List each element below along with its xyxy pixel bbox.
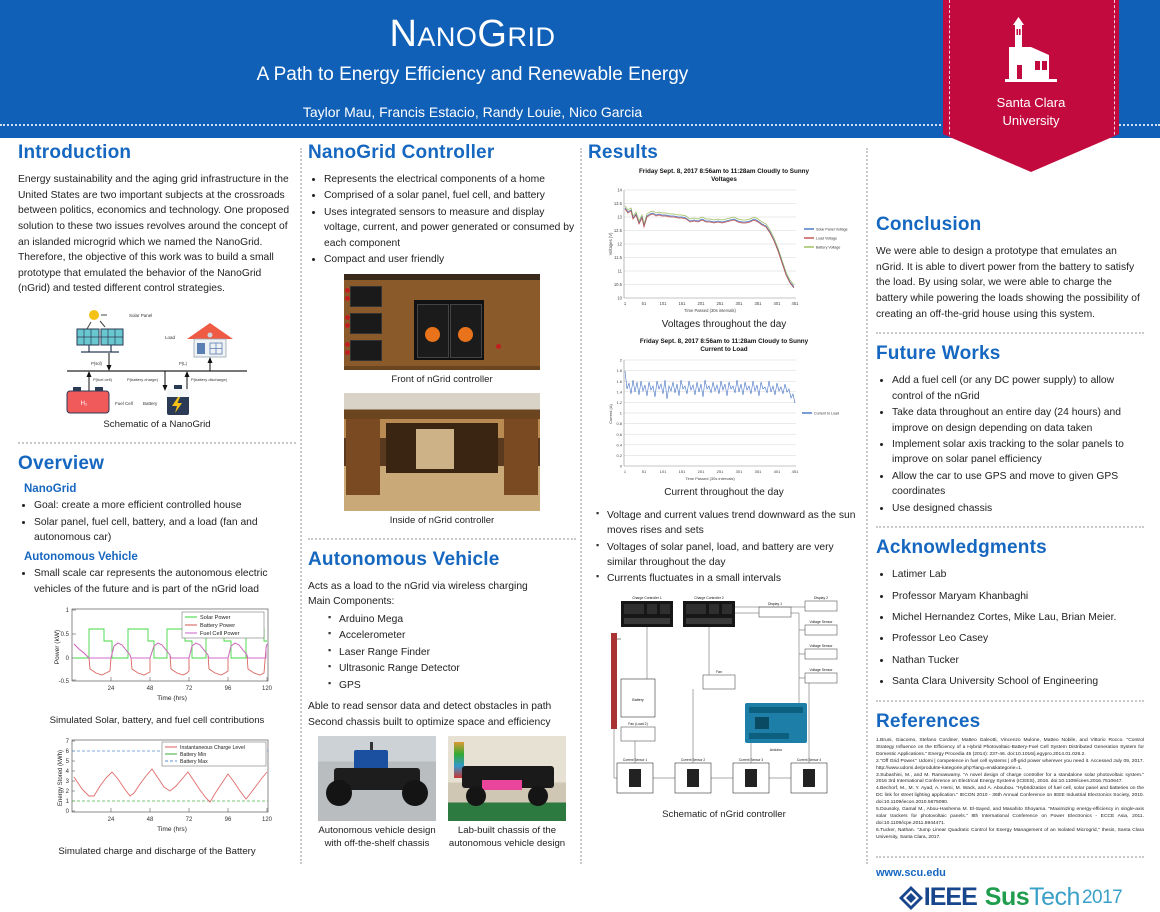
svg-text:2: 2 [66,789,70,795]
future-works-list: Add a fuel cell (or any DC power supply)… [876,373,1144,516]
svg-text:Solar Panel Voltage: Solar Panel Voltage [816,228,848,232]
references-heading: References [876,711,1144,733]
overview-heading: Overview [18,453,296,475]
section-acknowledgments: Acknowledgments Latimer Lab Professor Ma… [876,537,1144,690]
section-divider [876,526,1144,528]
list-item: GPS [328,678,576,693]
svg-text:451: 451 [792,301,800,306]
svg-text:24: 24 [108,686,115,692]
svg-text:Voltages (V): Voltages (V) [608,232,613,255]
list-item: Implement solar axis tracking to the sol… [892,437,1144,468]
poster-subtitle: A Path to Energy Efficiency and Renewabl… [257,64,689,86]
vehicle-offshelf-photo [318,736,436,821]
overview-vehicle-list: Small scale car represents the autonomou… [18,566,296,597]
svg-text:Time (hrs): Time (hrs) [157,826,187,833]
vehicle-line-1: Acts as a load to the nGrid via wireless… [308,579,576,595]
svg-text:Instantaneous Charge Level: Instantaneous Charge Level [180,745,245,751]
list-item: Arduino Mega [328,612,576,627]
svg-text:96: 96 [225,686,232,692]
svg-text:Energy Stored (kWh): Energy Stored (kWh) [58,750,64,806]
svg-text:48: 48 [147,686,154,692]
svg-text:Load Voltage: Load Voltage [816,237,837,241]
battery-charge-chart-figure: 765 432 10 [18,734,296,859]
svg-text:-0.5: -0.5 [59,679,70,685]
vehicle-labbuilt-photo [448,736,566,821]
section-divider [308,538,576,540]
svg-text:151: 151 [679,301,687,306]
header-text-block: NanoGrid A Path to Energy Efficiency and… [0,0,945,138]
voltages-chart-title-line2: Voltages [588,176,860,184]
section-autonomous-vehicle: Autonomous Vehicle Acts as a load to the… [308,549,576,852]
column-2: NanoGrid Controller Represents the elect… [308,142,576,851]
svg-text:11.5: 11.5 [614,255,623,260]
svg-text:Load: Load [165,335,176,340]
svg-text:1.2: 1.2 [616,400,622,405]
controller-inside-photo-caption: Inside of nGrid controller [308,515,576,528]
section-introduction: Introduction Energy sustainability and t… [18,142,296,432]
column-1: Introduction Energy sustainability and t… [18,142,296,859]
vehicle-line-2: Main Components: [308,594,576,610]
svg-text:Current to Load: Current to Load [814,412,839,416]
vehicle-offshelf-caption-line2: with off-the-shelf chassis [318,838,436,851]
battery-charge-chart: 765 432 10 [34,734,280,842]
svg-text:14: 14 [617,188,622,193]
svg-text:Solar Panel: Solar Panel [129,313,152,318]
reference-entry: 6.Tucker, Nathan. "Jump Linear Quadratic… [876,828,1144,842]
svg-text:P(battery charge): P(battery charge) [127,377,159,382]
vehicle-heading: Autonomous Vehicle [308,549,576,571]
scu-name: Santa Clara University [943,94,1119,129]
list-item: Ultrasonic Range Detector [328,661,576,676]
list-item: Accelerometer [328,628,576,643]
svg-text:401: 401 [774,301,782,306]
column-divider-2 [580,148,582,864]
svg-text:6: 6 [66,749,70,755]
future-works-heading: Future Works [876,343,1144,365]
reference-entry: 2."Off Grid Power." Udomi | competence i… [876,759,1144,773]
svg-text:201: 201 [698,301,706,306]
list-item: Goal: create a more efficient controlled… [34,498,296,513]
svg-text:201: 201 [698,469,705,474]
svg-text:0.5: 0.5 [61,632,70,638]
column-divider-3 [866,148,868,864]
footer-divider [876,856,1144,858]
list-item: Professor Leo Casey [892,631,1144,646]
scu-url-link[interactable]: www.scu.edu [876,867,1144,879]
svg-text:Battery: Battery [143,401,158,406]
svg-text:101: 101 [660,301,668,306]
voltages-chart-figure: Friday Sept. 8, 2017 8:56am to 11:28am C… [588,168,860,332]
svg-text:11: 11 [618,269,623,274]
acknowledgments-heading: Acknowledgments [876,537,1144,559]
svg-text:12.5: 12.5 [614,228,623,233]
list-item: Nathan Tucker [892,653,1144,668]
poster-body: Introduction Energy sustainability and t… [0,142,1160,870]
section-references: References 1.Bruni, Giacomo, Stefano Cor… [876,711,1144,842]
svg-text:Display 1: Display 1 [768,602,782,606]
svg-text:1: 1 [66,799,70,805]
svg-text:0: 0 [620,464,623,469]
svg-text:120: 120 [262,686,273,692]
column-4: Conclusion We were able to design a prot… [876,142,1144,912]
svg-text:1.6: 1.6 [616,379,622,384]
column-divider-1 [300,148,302,864]
list-item: Michel Hernandez Cortes, Mike Lau, Brian… [892,610,1144,625]
svg-text:Current (A): Current (A) [608,404,613,424]
svg-text:251: 251 [717,469,724,474]
svg-text:1.4: 1.4 [616,390,622,395]
svg-text:Fan: Fan [716,670,722,674]
section-conclusion: Conclusion We were able to design a prot… [876,214,1144,322]
svg-text:120: 120 [262,817,273,823]
ngrid-schematic-caption: Schematic of nGrid controller [588,809,860,822]
current-chart-caption: Current throughout the day [588,486,860,500]
list-item: Comprised of a solar panel, fuel cell, a… [324,188,576,203]
svg-text:51: 51 [642,469,647,474]
list-item: Santa Clara University School of Enginee… [892,674,1144,689]
simulated-power-chart-caption: Simulated Solar, battery, and fuel cell … [18,715,296,728]
vehicle-components-list: Arduino Mega Accelerometer Laser Range F… [308,612,576,693]
column-3: Results Friday Sept. 8, 2017 8:56am to 1… [588,142,860,822]
simulated-power-chart-figure: 1 0.5 0 -0.5 2448 [18,603,296,728]
svg-text:10: 10 [617,296,622,301]
svg-text:1: 1 [624,469,627,474]
list-item: Laser Range Finder [328,645,576,660]
page-title: NanoGrid [389,14,555,56]
ngrid-schematic-figure: Charge Controller 1 Charge Controller 2 [588,593,860,822]
svg-text:Battery Max: Battery Max [180,759,208,765]
list-item: Use designed chassis [892,501,1144,516]
section-nanogrid-controller: NanoGrid Controller Represents the elect… [308,142,576,528]
svg-text:P(L): P(L) [179,361,188,366]
svg-text:0.4: 0.4 [616,443,622,448]
controller-front-photo-caption: Front of nGrid controller [308,374,576,387]
svg-text:Fuel Cell: Fuel Cell [115,401,133,406]
svg-text:Battery Power: Battery Power [200,623,235,629]
overview-nanogrid-list: Goal: create a more efficient controlled… [18,498,296,545]
vehicle-labbuilt-figure: Lab-built chassis of the autonomous vehi… [448,736,566,851]
svg-text:Voltage Sensor: Voltage Sensor [810,644,834,648]
svg-text:1: 1 [624,301,627,306]
svg-text:0.2: 0.2 [616,453,622,458]
svg-text:Fuel Cell Power: Fuel Cell Power [200,631,240,637]
svg-text:13: 13 [617,215,622,220]
scu-name-line2: University [943,112,1119,130]
conclusion-heading: Conclusion [876,214,1144,236]
reference-entry: 3.Subashini, M., and M. Ramaswamy. "A no… [876,773,1144,787]
svg-text:Time Passed (30s intervals): Time Passed (30s intervals) [684,308,736,313]
tech-wordmark: Tech [1029,883,1080,912]
ieee-sustech-logo: IEEE Sus Tech 2017 [876,883,1144,912]
svg-text:101: 101 [660,469,667,474]
svg-text:251: 251 [717,301,725,306]
svg-text:P(battery discharge): P(battery discharge) [191,377,228,382]
vehicle-offshelf-figure: Autonomous vehicle design with off-the-s… [318,736,436,851]
svg-text:401: 401 [774,469,781,474]
svg-text:0.8: 0.8 [616,421,622,426]
svg-text:72: 72 [186,817,193,823]
svg-text:0: 0 [66,809,70,815]
svg-text:1: 1 [620,411,623,416]
svg-text:301: 301 [736,469,743,474]
voltages-chart-caption: Voltages throughout the day [588,318,860,332]
svg-text:351: 351 [755,301,763,306]
list-item: Compact and user friendly [324,252,576,267]
list-item: Uses integrated sensors to measure and d… [324,205,576,251]
svg-text:Voltage Sensor: Voltage Sensor [810,668,834,672]
acknowledgments-list: Latimer Lab Professor Maryam Khanbaghi M… [876,567,1144,690]
section-divider [876,332,1144,334]
results-bullet-list: Voltage and current values trend downwar… [588,508,860,587]
list-item: Allow the car to use GPS and move to giv… [892,469,1144,500]
svg-text:H₂: H₂ [81,401,88,407]
reference-entry: 5.Dousoky, Gamal M., Abou-Hashema M. El-… [876,807,1144,828]
svg-text:Power (kW): Power (kW) [54,630,61,664]
svg-text:Charge Controller 2: Charge Controller 2 [694,596,724,600]
list-item: Represents the electrical components of … [324,172,576,187]
svg-text:451: 451 [792,469,799,474]
svg-text:351: 351 [755,469,762,474]
introduction-heading: Introduction [18,142,296,164]
poster-authors: Taylor Mau, Francis Estacio, Randy Louie… [303,104,642,120]
section-future-works: Future Works Add a fuel cell (or any DC … [876,343,1144,516]
list-item: Voltages of solar panel, load, and batte… [596,540,860,571]
results-heading: Results [588,142,860,164]
svg-text:5: 5 [66,759,70,765]
svg-text:7: 7 [66,739,70,745]
section-divider [876,700,1144,702]
current-chart-figure: Friday Sept. 8, 2017 8:56am to 11:28am C… [588,338,860,500]
list-item: Add a fuel cell (or any DC power supply)… [892,373,1144,404]
nanogrid-schematic-figure: H₂ Solar Panel Load P(sol) [18,305,296,432]
voltages-chart: 1413.513 12.51211.5 1110.510 151101 1512… [598,186,850,316]
controller-bullet-list: Represents the electrical components of … [308,172,576,268]
vehicle-offshelf-caption-line1: Autonomous vehicle design [318,825,436,838]
vehicle-labbuilt-caption-line1: Lab-built chassis of the [448,825,566,838]
references-list: 1.Bruni, Giacomo, Stefano Cordiner, Matt… [876,738,1144,842]
nanogrid-schematic-icon: H₂ Solar Panel Load P(sol) [47,305,267,415]
section-divider [18,442,296,444]
vehicle-line-3: Able to read sensor data and detect obst… [308,699,576,715]
current-chart-title-line2: Current to Load [588,346,860,354]
ngrid-schematic-icon: Charge Controller 1 Charge Controller 2 [599,593,849,805]
ieee-wordmark: IEEE [924,883,977,912]
list-item: Currents fluctuates in a small intervals [596,571,860,586]
svg-text:10.5: 10.5 [614,282,623,287]
list-item: Professor Maryam Khanbaghi [892,589,1144,604]
reference-entry: 4.Bechorf, M., M. Y. Ayad, A. Hemi, M. W… [876,786,1144,807]
introduction-paragraph: Energy sustainability and the aging grid… [18,172,296,297]
svg-text:151: 151 [679,469,686,474]
svg-text:0: 0 [66,656,70,662]
controller-inside-photo-figure: Inside of nGrid controller [308,393,576,528]
svg-text:48: 48 [147,817,154,823]
controller-inside-photo [344,393,540,511]
current-chart: 21.81.6 1.41.21 0.80.60.4 0.20 151101 15… [598,356,850,484]
svg-text:2: 2 [620,358,623,363]
overview-sub-vehicle: Autonomous Vehicle [24,551,296,563]
list-item: Latimer Lab [892,567,1144,582]
vehicle-labbuilt-caption-line2: autonomous vehicle design [448,838,566,851]
scu-name-line1: Santa Clara [943,94,1119,112]
section-results: Results Friday Sept. 8, 2017 8:56am to 1… [588,142,860,822]
sus-wordmark: Sus [985,883,1029,912]
controller-heading: NanoGrid Controller [308,142,576,164]
svg-text:4: 4 [66,769,70,775]
svg-text:Voltage Sensor: Voltage Sensor [810,620,834,624]
svg-text:P(sol): P(sol) [91,361,103,366]
svg-text:72: 72 [186,686,193,692]
list-item: Take data throughout an entire day (24 h… [892,405,1144,436]
svg-text:P(fuel cell): P(fuel cell) [93,377,113,382]
svg-text:Display 2: Display 2 [814,596,828,600]
svg-text:1.8: 1.8 [616,368,622,373]
svg-text:Battery: Battery [632,698,644,702]
svg-text:Solar Power: Solar Power [200,615,231,621]
svg-text:Time Passed (30s intervals): Time Passed (30s intervals) [685,476,735,481]
introduction-figure-caption: Schematic of a NanoGrid [18,419,296,432]
voltages-chart-title-line1: Friday Sept. 8, 2017 8:56am to 11:28am C… [588,168,860,176]
simulated-power-chart: 1 0.5 0 -0.5 2448 [34,603,280,711]
list-item: Small scale car represents the autonomou… [34,566,296,597]
vehicle-line-4: Second chassis built to optimize space a… [308,715,576,731]
svg-text:Battery Min: Battery Min [180,752,206,758]
svg-text:96: 96 [225,817,232,823]
svg-text:Arduino: Arduino [770,748,782,752]
banner-dashed-border [949,0,1115,160]
svg-text:Fan (Load 2): Fan (Load 2) [628,722,647,726]
conclusion-paragraph: We were able to design a prototype that … [876,244,1144,322]
reference-entry: 1.Bruni, Giacomo, Stefano Cordiner, Matt… [876,738,1144,759]
svg-text:13.5: 13.5 [614,201,623,206]
svg-text:1: 1 [66,608,70,614]
controller-front-photo-figure: Front of nGrid controller [308,274,576,387]
svg-text:Battery Voltage: Battery Voltage [816,246,840,250]
list-item: Voltage and current values trend downwar… [596,508,860,539]
svg-text:24: 24 [108,817,115,823]
list-item: Solar panel, fuel cell, battery, and a l… [34,515,296,546]
controller-front-photo [344,274,540,370]
svg-text:12: 12 [617,242,622,247]
svg-text:51: 51 [642,301,647,306]
ieee-diamond-icon [898,885,924,911]
overview-sub-nanogrid: NanoGrid [24,483,296,495]
svg-text:Charge Controller 1: Charge Controller 1 [632,596,662,600]
current-chart-title-line1: Friday Sept. 8, 2017 8:56am to 11:28am C… [588,338,860,346]
svg-text:3: 3 [66,779,70,785]
svg-text:0.6: 0.6 [616,432,622,437]
vehicle-photos-row: Autonomous vehicle design with off-the-s… [308,736,576,851]
sustech-year: 2017 [1082,887,1122,909]
svg-text:Time (hrs): Time (hrs) [157,695,187,702]
section-overview: Overview NanoGrid Goal: create a more ef… [18,453,296,859]
battery-charge-chart-caption: Simulated charge and discharge of the Ba… [18,846,296,859]
svg-text:301: 301 [736,301,744,306]
